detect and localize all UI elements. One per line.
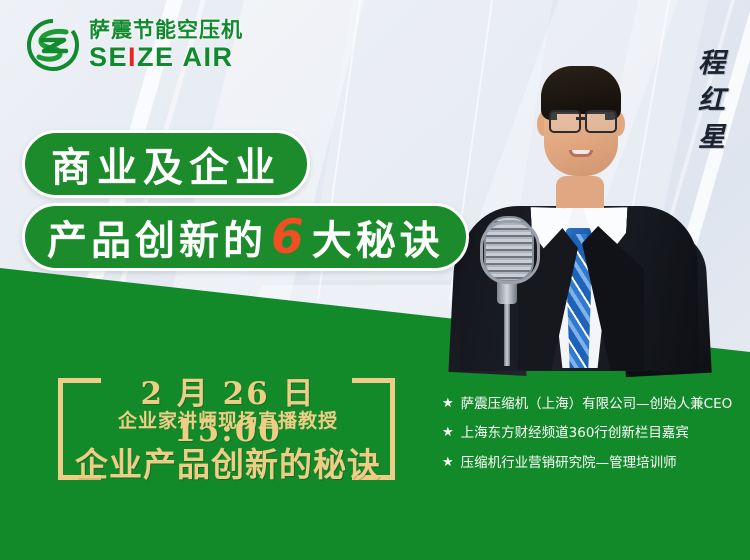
star-icon: ★ bbox=[442, 455, 454, 471]
title-pill-primary: 商业及企业 bbox=[22, 130, 310, 198]
speaker-photo bbox=[452, 38, 702, 368]
credential-text: 萨震压缩机（上海）有限公司—创始人兼CEO bbox=[461, 396, 733, 412]
credential-text: 上海东方财经频道360行创新栏目嘉宾 bbox=[461, 425, 689, 441]
list-item: ★ 压缩机行业营销研究院—管理培训师 bbox=[442, 455, 742, 471]
hair bbox=[541, 66, 621, 114]
brand-name-cn: 萨震节能空压机 bbox=[89, 20, 243, 41]
star-icon: ★ bbox=[442, 425, 454, 441]
brand-name-en: SEIZE AIR bbox=[89, 44, 243, 71]
teeth bbox=[572, 150, 590, 154]
eyeglasses-right-lens bbox=[585, 110, 617, 133]
brand-logo[interactable]: 萨震节能空压机 SEIZE AIR bbox=[26, 18, 243, 72]
title-line-2-suffix: 大秘诀 bbox=[312, 208, 444, 266]
eyeglasses-bridge bbox=[576, 117, 586, 120]
event-headline: 企业产品创新的秘诀 bbox=[72, 438, 384, 486]
eyeglasses-left-lens bbox=[549, 110, 581, 133]
title-line-2-prefix: 产品创新的 bbox=[47, 208, 267, 266]
title-line-1: 商业及企业 bbox=[51, 135, 281, 193]
microphone-ring bbox=[480, 220, 540, 284]
promo-banner: 萨震节能空压机 SEIZE AIR 商业及企业 产品创新的6大秘诀 程红星 2 … bbox=[0, 0, 750, 560]
brand-name-en-part2: ZE AIR bbox=[137, 42, 234, 72]
title-pill-secondary: 产品创新的6大秘诀 bbox=[22, 203, 469, 271]
list-item: ★ 上海东方财经频道360行创新栏目嘉宾 bbox=[442, 425, 742, 441]
speaker-name-calligraphy: 程红星 bbox=[689, 48, 728, 159]
star-icon: ★ bbox=[442, 396, 454, 412]
list-item: ★ 萨震压缩机（上海）有限公司—创始人兼CEO bbox=[442, 396, 742, 412]
microphone-stem bbox=[504, 302, 510, 366]
credential-text: 压缩机行业营销研究院—管理培训师 bbox=[461, 455, 677, 471]
event-subtitle: 企业家讲师现场直播教授 bbox=[88, 406, 368, 433]
credentials-list: ★ 萨震压缩机（上海）有限公司—创始人兼CEO ★ 上海东方财经频道360行创新… bbox=[442, 396, 742, 484]
brand-logo-text: 萨震节能空压机 SEIZE AIR bbox=[89, 20, 243, 71]
sz-circle-logo-icon bbox=[26, 18, 80, 72]
brand-name-en-accent: I bbox=[128, 42, 137, 72]
microphone-icon bbox=[484, 216, 530, 366]
title-number-six: 6 bbox=[267, 214, 312, 261]
brand-name-en-part1: SE bbox=[89, 42, 128, 72]
